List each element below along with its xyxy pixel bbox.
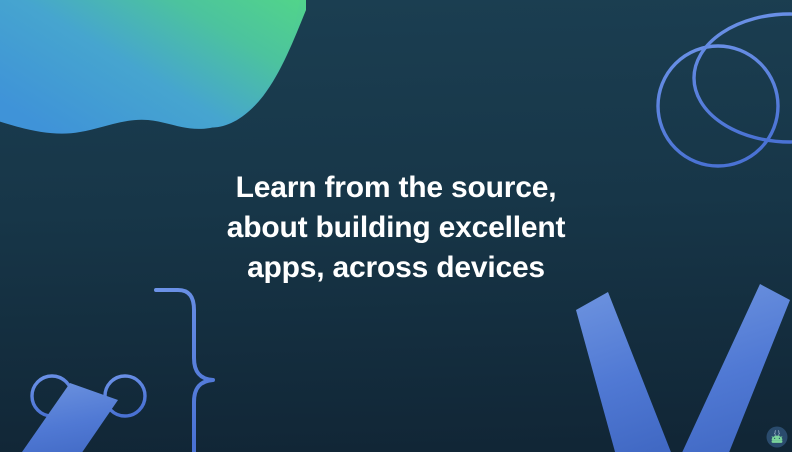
page-title: Learn from the source, about building ex… — [0, 168, 792, 288]
android-developers-badge: { } — [766, 426, 788, 448]
headline-line-1: Learn from the source, — [0, 168, 792, 208]
headline-line-3: apps, across devices — [0, 248, 792, 288]
headline-line-2: about building excellent — [0, 208, 792, 248]
presentation-slide: Learn from the source, about building ex… — [0, 0, 792, 452]
